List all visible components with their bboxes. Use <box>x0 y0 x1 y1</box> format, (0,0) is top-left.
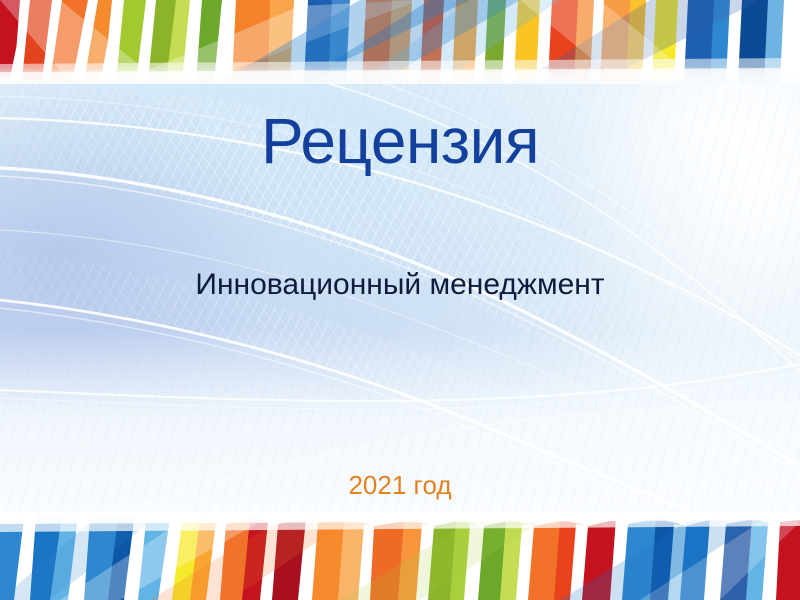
slide-title: Рецензия <box>0 108 800 175</box>
abstract-shard-band-top <box>0 0 800 84</box>
abstract-shard-band-bottom <box>0 512 800 600</box>
title-slide: Рецензия Инновационный менеджмент 2021 г… <box>0 0 800 600</box>
slide-subtitle: Инновационный менеджмент <box>0 268 800 303</box>
slide-year: 2021 год <box>0 471 800 501</box>
